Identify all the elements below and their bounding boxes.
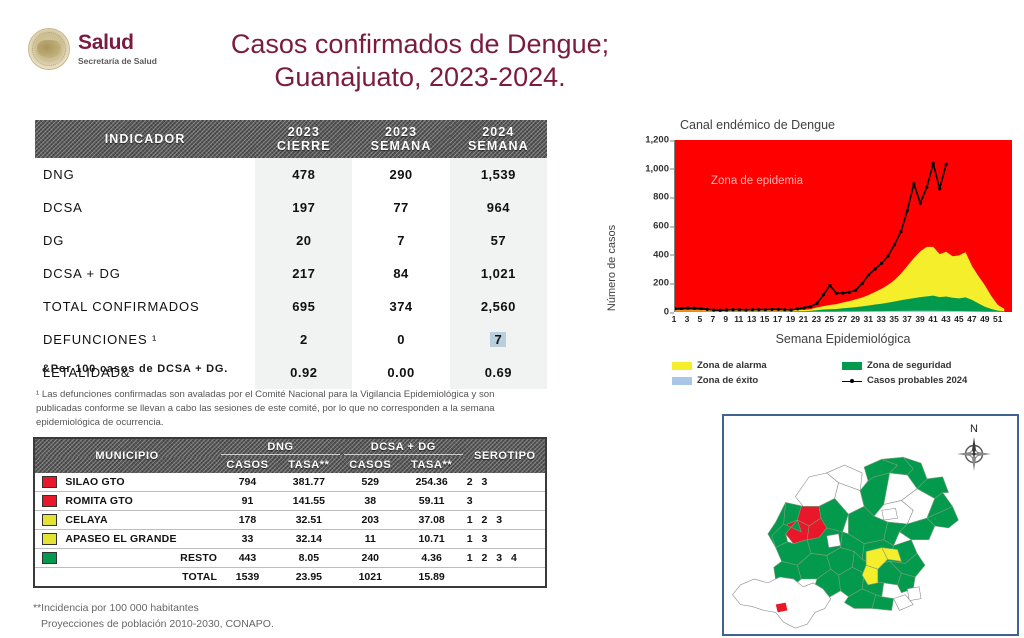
- chart-data-point: [841, 291, 844, 294]
- chart-data-point: [874, 267, 877, 270]
- chart-data-point: [828, 284, 831, 287]
- legend-color-box-icon: [672, 362, 692, 370]
- chart-y-tick: 1,200: [645, 135, 669, 146]
- col-header-2023-semana-period: SEMANA: [356, 139, 445, 153]
- chart-y-axis-label: Número de casos: [606, 225, 618, 311]
- muni-dng-tasa: 381.77: [276, 473, 342, 492]
- indicator-cell: 217: [255, 257, 352, 290]
- chart-y-tick: 0: [664, 307, 669, 318]
- indicator-cell: 0.00: [352, 356, 449, 389]
- chart-data-point: [725, 308, 728, 311]
- chart-x-tick: 43: [941, 314, 950, 324]
- muni-serotipo: 1 3: [465, 530, 545, 549]
- indicator-cell: 0.69: [450, 356, 547, 389]
- muni-serotipo: 3: [465, 492, 545, 511]
- highlighted-value: 7: [490, 332, 506, 347]
- table-row: APASEO EL GRANDE3332.141110.711 3: [35, 530, 545, 549]
- indicator-cell: 7: [450, 323, 547, 356]
- chart-data-point: [777, 308, 780, 311]
- legend-label: Zona de éxito: [697, 375, 758, 386]
- indicator-cell: 0: [352, 323, 449, 356]
- table-row: RESTO4438.052404.361 2 3 4: [35, 549, 545, 568]
- indicator-row-label: DCSA + DG: [35, 257, 255, 290]
- chart-x-tick: 13: [747, 314, 756, 324]
- indicator-cell: 2: [255, 323, 352, 356]
- note-incidencia-line1: **Incidencia por 100 000 habitantes: [33, 600, 274, 616]
- map-municipality: [907, 587, 921, 601]
- chart-data-point: [861, 282, 864, 285]
- chart-x-tick: 41: [928, 314, 937, 324]
- muni-col-header-municipio: MUNICIPIO: [35, 439, 219, 473]
- muni-dng-tasa: 141.55: [276, 492, 342, 511]
- chart-data-point: [686, 306, 689, 309]
- indicator-row-label: DG: [35, 224, 255, 257]
- color-swatch-icon: [42, 552, 57, 564]
- col-header-2023-cierre-period: CIERRE: [259, 139, 348, 153]
- chart-plot-wrap: Zona de epidemia 02004006008001,0001,200: [674, 140, 1012, 312]
- muni-dcsa-casos: 529: [342, 473, 399, 492]
- chart-data-point: [815, 302, 818, 305]
- chart-y-tick: 200: [653, 278, 669, 289]
- map-municipality: [827, 534, 841, 548]
- chart-data-point: [699, 307, 702, 310]
- chart-data-point: [719, 309, 722, 312]
- salud-logo: Salud Secretaría de Salud: [28, 28, 157, 70]
- muni-name: ROMITA GTO: [63, 492, 219, 511]
- color-swatch-icon: [42, 495, 57, 507]
- chart-data-point: [751, 308, 754, 311]
- muni-dcsa-casos: 1021: [342, 568, 399, 587]
- chart-legend-item: Casos probables 2024: [842, 375, 1002, 386]
- col-header-2024-semana-year: 2024: [454, 125, 543, 139]
- indicator-row: DCSA + DG217841,021: [35, 257, 547, 290]
- chart-data-point: [738, 308, 741, 311]
- chart-data-point: [790, 308, 793, 311]
- indicator-row: TOTAL CONFIRMADOS6953742,560: [35, 290, 547, 323]
- muni-serotipo: 1 2 3 4: [465, 549, 545, 568]
- map-municipality: [872, 595, 894, 611]
- chart-x-tick: 39: [915, 314, 924, 324]
- muni-dcsa-casos: 11: [342, 530, 399, 549]
- indicator-row: DG20757: [35, 224, 547, 257]
- mexico-inset-map: [733, 577, 831, 628]
- indicator-cell: 2,560: [450, 290, 547, 323]
- indicator-row-label: DNG: [35, 158, 255, 191]
- legend-color-box-icon: [842, 362, 862, 370]
- chart-x-tick: 5: [698, 314, 703, 324]
- muni-name: APASEO EL GRANDE: [63, 530, 219, 549]
- chart-x-tick: 37: [902, 314, 911, 324]
- chart-x-tick: 33: [876, 314, 885, 324]
- chart-x-axis: 1357911131517192123252729313335373941434…: [674, 314, 1012, 328]
- legend-line-marker-icon: [842, 377, 862, 385]
- muni-dcsa-tasa: 59.11: [399, 492, 465, 511]
- indicator-cell: 695: [255, 290, 352, 323]
- chart-data-point: [848, 291, 851, 294]
- chart-x-tick: 23: [812, 314, 821, 324]
- legend-color-box-icon: [672, 377, 692, 385]
- table-row: TOTAL153923.95102115.89: [35, 568, 545, 587]
- endemic-channel-chart: Canal endémico de Dengue Número de casos…: [608, 118, 1018, 388]
- muni-dng-casos: 33: [219, 530, 276, 549]
- chart-data-point: [932, 162, 935, 165]
- page-title: Casos confirmados de Dengue; Guanajuato,…: [180, 28, 660, 94]
- indicator-cell: 478: [255, 158, 352, 191]
- muni-dcsa-tasa: 15.89: [399, 568, 465, 587]
- color-swatch-icon: [42, 514, 57, 526]
- salud-logo-subtitle: Secretaría de Salud: [78, 56, 157, 66]
- muni-col-header-dcsa-dg-label: DCSA + DG: [344, 441, 463, 455]
- muni-name: CELAYA: [63, 511, 219, 530]
- legend-label: Zona de seguridad: [867, 360, 951, 371]
- chart-data-point: [886, 255, 889, 258]
- chart-data-point: [680, 307, 683, 310]
- muni-dng-casos: 443: [219, 549, 276, 568]
- indicator-cell: 1,021: [450, 257, 547, 290]
- col-header-2024-semana: 2024 SEMANA: [450, 120, 547, 158]
- mexico-outline: [733, 577, 831, 628]
- chart-data-point: [764, 308, 767, 311]
- chart-data-point: [803, 306, 806, 309]
- chart-data-point: [757, 308, 760, 311]
- chart-legend-item: Zona de alarma: [672, 360, 832, 371]
- muni-dcsa-tasa: 10.71: [399, 530, 465, 549]
- muni-col-header-serotipo: SEROTIPO: [465, 439, 545, 473]
- indicator-row: DNG4782901,539: [35, 158, 547, 191]
- chart-data-point: [809, 305, 812, 308]
- chart-x-tick: 31: [864, 314, 873, 324]
- muni-dng-tasa: 32.51: [276, 511, 342, 530]
- muni-dcsa-tasa: 37.08: [399, 511, 465, 530]
- chart-x-tick: 27: [838, 314, 847, 324]
- chart-data-point: [880, 262, 883, 265]
- chart-x-tick: 29: [851, 314, 860, 324]
- col-header-2023-cierre-year: 2023: [259, 125, 348, 139]
- indicator-cell: 57: [450, 224, 547, 257]
- chart-y-tick: 400: [653, 249, 669, 260]
- chart-legend-item: Zona de éxito: [672, 375, 832, 386]
- indicator-table-header-row: INDICADOR 2023 CIERRE 2023 SEMANA 2024 S…: [35, 120, 547, 158]
- col-header-2023-semana-year: 2023: [356, 125, 445, 139]
- chart-series-svg: [675, 140, 1012, 312]
- muni-name: TOTAL: [63, 568, 219, 587]
- muni-dcsa-casos: 240: [342, 549, 399, 568]
- indicator-cell: 374: [352, 290, 449, 323]
- indicator-cell: 7: [352, 224, 449, 257]
- chart-data-point: [732, 308, 735, 311]
- chart-x-tick: 51: [993, 314, 1002, 324]
- guanajuato-map-panel: N: [722, 414, 1019, 636]
- muni-color-swatch-cell: [35, 473, 63, 492]
- chart-x-tick: 15: [760, 314, 769, 324]
- muni-col-header-dcsa-casos: CASOS: [342, 457, 399, 473]
- indicator-row: DEFUNCIONES ¹207: [35, 323, 547, 356]
- chart-data-point: [822, 293, 825, 296]
- chart-x-axis-label: Semana Epidemiológica: [674, 332, 1012, 346]
- compass-rose-icon: N: [953, 424, 995, 476]
- color-swatch-icon: [42, 476, 57, 488]
- chart-x-tick: 7: [710, 314, 715, 324]
- muni-serotipo: 1 2 3: [465, 511, 545, 530]
- chart-x-tick: 25: [825, 314, 834, 324]
- chart-data-point: [912, 182, 915, 185]
- muni-name: SILAO GTO: [63, 473, 219, 492]
- legend-label: Casos probables 2024: [867, 375, 967, 386]
- muni-col-header-dng: DNG: [219, 439, 342, 457]
- chart-data-point: [796, 307, 799, 310]
- muni-dng-tasa: 23.95: [276, 568, 342, 587]
- chart-x-tick: 17: [773, 314, 782, 324]
- chart-x-tick: 19: [786, 314, 795, 324]
- page-title-line2: Guanajuato, 2023-2024.: [180, 61, 660, 94]
- indicator-table: INDICADOR 2023 CIERRE 2023 SEMANA 2024 S…: [35, 120, 547, 389]
- muni-col-header-dng-label: DNG: [221, 441, 340, 455]
- indicator-cell: 20: [255, 224, 352, 257]
- indicator-cell: 197: [255, 191, 352, 224]
- indicator-row-label: TOTAL CONFIRMADOS: [35, 290, 255, 323]
- note-incidencia-line2: Proyecciones de población 2010-2030, CON…: [33, 616, 274, 632]
- chart-data-point: [835, 292, 838, 295]
- muni-table-header-row: MUNICIPIO DNG DCSA + DG SEROTIPO: [35, 439, 545, 457]
- indicator-row-label: DEFUNCIONES ¹: [35, 323, 255, 356]
- legend-label: Zona de alarma: [697, 360, 767, 371]
- indicator-cell: 964: [450, 191, 547, 224]
- chart-data-point: [693, 307, 696, 310]
- col-header-2024-semana-period: SEMANA: [454, 139, 543, 153]
- muni-dcsa-tasa: 254.36: [399, 473, 465, 492]
- table-row: SILAO GTO794381.77529254.362 3: [35, 473, 545, 492]
- chart-title: Canal endémico de Dengue: [680, 118, 835, 132]
- chart-data-point: [783, 308, 786, 311]
- chart-x-tick: 9: [723, 314, 728, 324]
- chart-data-point: [712, 308, 715, 311]
- muni-dng-casos: 1539: [219, 568, 276, 587]
- muni-dng-casos: 91: [219, 492, 276, 511]
- chart-data-point: [899, 230, 902, 233]
- chart-data-point: [938, 187, 941, 190]
- map-municipality: [882, 508, 898, 520]
- chart-y-tick: 1,000: [645, 163, 669, 174]
- chart-x-tick: 3: [685, 314, 690, 324]
- chart-data-point: [945, 163, 948, 166]
- muni-dcsa-casos: 38: [342, 492, 399, 511]
- muni-color-swatch-cell: [35, 530, 63, 549]
- chart-y-tick: 800: [653, 192, 669, 203]
- muni-col-header-dcsa-tasa: TASA**: [399, 457, 465, 473]
- muni-color-swatch-cell: [35, 549, 63, 568]
- col-header-2023-cierre: 2023 CIERRE: [255, 120, 352, 158]
- muni-dcsa-casos: 203: [342, 511, 399, 530]
- muni-dng-tasa: 32.14: [276, 530, 342, 549]
- muni-color-swatch-cell: [35, 568, 63, 587]
- table-row: ROMITA GTO91141.553859.113: [35, 492, 545, 511]
- chart-plot-area: Zona de epidemia: [674, 140, 1012, 312]
- indicator-cell: 84: [352, 257, 449, 290]
- muni-dng-casos: 794: [219, 473, 276, 492]
- muni-dcsa-tasa: 4.36: [399, 549, 465, 568]
- chart-data-point: [744, 308, 747, 311]
- chart-x-tick: 11: [734, 314, 743, 324]
- chart-data-point: [706, 308, 709, 311]
- chart-legend: Zona de alarmaZona de seguridadZona de é…: [672, 360, 1002, 386]
- muni-dng-tasa: 8.05: [276, 549, 342, 568]
- chart-x-tick: 35: [889, 314, 898, 324]
- col-header-2023-semana: 2023 SEMANA: [352, 120, 449, 158]
- chart-legend-item: Zona de seguridad: [842, 360, 1002, 371]
- indicator-row: DCSA19777964: [35, 191, 547, 224]
- compass-north-label: N: [953, 424, 995, 435]
- note-incidencia: **Incidencia por 100 000 habitantes Proy…: [33, 600, 274, 633]
- chart-x-tick: 21: [799, 314, 808, 324]
- indicator-cell: 1,539: [450, 158, 547, 191]
- mexico-eagle-seal-icon: [28, 28, 70, 70]
- salud-wordmark: Salud Secretaría de Salud: [78, 32, 157, 66]
- muni-col-header-dng-casos: CASOS: [219, 457, 276, 473]
- color-swatch-icon: [42, 533, 57, 545]
- indicator-cell: 290: [352, 158, 449, 191]
- table-row: CELAYA17832.5120337.081 2 3: [35, 511, 545, 530]
- muni-color-swatch-cell: [35, 492, 63, 511]
- indicator-cell: 0.92: [255, 356, 352, 389]
- indicator-row-label: DCSA: [35, 191, 255, 224]
- muni-serotipo: 2 3: [465, 473, 545, 492]
- muni-col-header-dcsa-dg: DCSA + DG: [342, 439, 465, 457]
- chart-x-tick: 1: [672, 314, 677, 324]
- muni-name: RESTO: [63, 549, 219, 568]
- muni-dng-casos: 178: [219, 511, 276, 530]
- chart-x-tick: 49: [980, 314, 989, 324]
- note-defunciones: ¹ Las defunciones confirmadas son avalad…: [36, 388, 536, 430]
- page-title-line1: Casos confirmados de Dengue;: [180, 28, 660, 61]
- chart-y-tick: 600: [653, 221, 669, 232]
- municipality-table: MUNICIPIO DNG DCSA + DG SEROTIPO CASOS T…: [33, 437, 547, 588]
- chart-data-point: [675, 307, 677, 310]
- muni-color-swatch-cell: [35, 511, 63, 530]
- muni-serotipo: [465, 568, 545, 587]
- chart-data-point: [854, 289, 857, 292]
- chart-data-point: [919, 201, 922, 204]
- col-header-indicador: INDICADOR: [35, 120, 255, 158]
- chart-data-point: [867, 273, 870, 276]
- chart-x-tick: 47: [967, 314, 976, 324]
- chart-data-point: [770, 308, 773, 311]
- chart-data-point: [906, 209, 909, 212]
- chart-annotation-zona-epidemia: Zona de epidemia: [711, 175, 803, 187]
- chart-data-point: [925, 186, 928, 189]
- indicator-cell: 77: [352, 191, 449, 224]
- muni-col-header-dng-tasa: TASA**: [276, 457, 342, 473]
- salud-logo-word: Salud: [78, 32, 157, 53]
- chart-data-point: [893, 243, 896, 246]
- note-letalidad: &Por 100 casos de DCSA + DG.: [42, 363, 228, 375]
- chart-x-tick: 45: [954, 314, 963, 324]
